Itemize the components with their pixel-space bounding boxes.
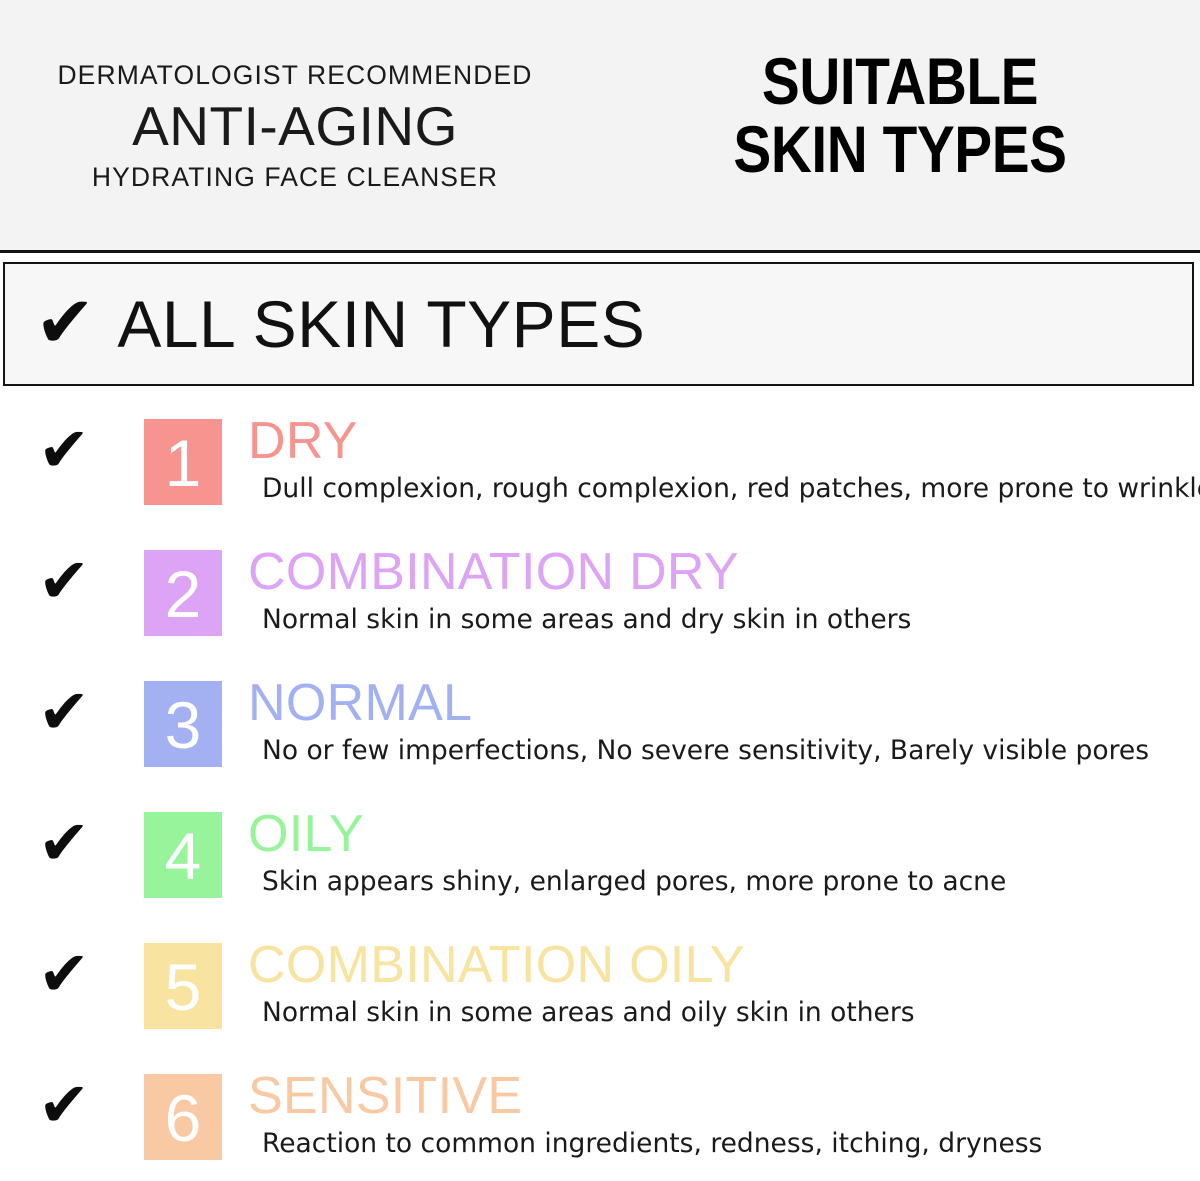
section-heading-block: SUITABLE SKIN TYPES [610, 48, 1190, 184]
list-item: ✔ 2 COMBINATION DRY Normal skin in some … [0, 526, 1200, 657]
skin-type-body: COMBINATION OILY Normal skin in some are… [248, 939, 1194, 1027]
header-banner: DERMATOLOGIST RECOMMENDED ANTI-AGING HYD… [0, 0, 1200, 252]
skin-type-swatch-5: 5 [144, 943, 222, 1029]
check-icon: ✔ [38, 550, 90, 612]
skin-type-body: COMBINATION DRY Normal skin in some area… [248, 546, 1194, 634]
skin-type-title: COMBINATION OILY [248, 939, 1194, 991]
skin-type-description: Normal skin in some areas and dry skin i… [262, 607, 1194, 634]
skin-type-description: Reaction to common ingredients, redness,… [262, 1131, 1194, 1158]
list-item: ✔ 4 OILY Skin appears shiny, enlarged po… [0, 788, 1200, 919]
skin-type-body: OILY Skin appears shiny, enlarged pores,… [248, 808, 1194, 896]
skin-type-description: Dull complexion, rough complexion, red p… [262, 476, 1194, 503]
product-name: ANTI-AGING [0, 98, 590, 154]
all-skin-types-label: ALL SKIN TYPES [117, 291, 645, 357]
skin-type-number: 1 [165, 430, 202, 496]
list-item: ✔ 5 COMBINATION OILY Normal skin in some… [0, 919, 1200, 1050]
skin-type-body: SENSITIVE Reaction to common ingredients… [248, 1070, 1194, 1158]
skin-type-number: 2 [165, 561, 202, 627]
skin-type-swatch-2: 2 [144, 550, 222, 636]
check-icon: ✔ [38, 681, 90, 743]
check-icon: ✔ [38, 1074, 90, 1136]
skin-type-description: No or few imperfections, No severe sensi… [262, 738, 1194, 765]
skin-type-title: SENSITIVE [248, 1070, 1194, 1122]
skin-type-description: Normal skin in some areas and oily skin … [262, 1000, 1194, 1027]
check-icon: ✔ [38, 943, 90, 1005]
skin-type-body: NORMAL No or few imperfections, No sever… [248, 677, 1194, 765]
product-title-block: DERMATOLOGIST RECOMMENDED ANTI-AGING HYD… [0, 62, 590, 190]
skin-type-title: NORMAL [248, 677, 1194, 729]
skin-type-number: 3 [165, 692, 202, 758]
skin-type-swatch-6: 6 [144, 1074, 222, 1160]
section-heading-line-2: SKIN TYPES [651, 116, 1150, 184]
section-heading-line-1: SUITABLE [651, 48, 1150, 116]
skin-type-description: Skin appears shiny, enlarged pores, more… [262, 869, 1194, 896]
check-icon: ✔ [35, 286, 95, 358]
skin-type-number: 6 [165, 1085, 202, 1151]
skin-type-swatch-3: 3 [144, 681, 222, 767]
skin-type-number: 5 [165, 954, 202, 1020]
product-kicker: DERMATOLOGIST RECOMMENDED [0, 62, 590, 89]
skin-type-number: 4 [165, 823, 202, 889]
check-icon: ✔ [38, 419, 90, 481]
skin-type-title: COMBINATION DRY [248, 546, 1194, 598]
header-divider [0, 250, 1200, 253]
product-infographic: DERMATOLOGIST RECOMMENDED ANTI-AGING HYD… [0, 0, 1200, 1179]
skin-type-title: DRY [248, 415, 1194, 467]
skin-type-body: DRY Dull complexion, rough complexion, r… [248, 415, 1194, 503]
skin-type-list: ✔ 1 DRY Dull complexion, rough complexio… [0, 395, 1200, 1181]
check-icon: ✔ [38, 812, 90, 874]
skin-type-swatch-4: 4 [144, 812, 222, 898]
list-item: ✔ 3 NORMAL No or few imperfections, No s… [0, 657, 1200, 788]
list-item: ✔ 6 SENSITIVE Reaction to common ingredi… [0, 1050, 1200, 1181]
all-skin-types-banner: ✔ ALL SKIN TYPES [3, 262, 1194, 386]
list-item: ✔ 1 DRY Dull complexion, rough complexio… [0, 395, 1200, 526]
skin-type-swatch-1: 1 [144, 419, 222, 505]
skin-type-title: OILY [248, 808, 1194, 860]
product-subtitle: HYDRATING FACE CLEANSER [0, 164, 590, 191]
